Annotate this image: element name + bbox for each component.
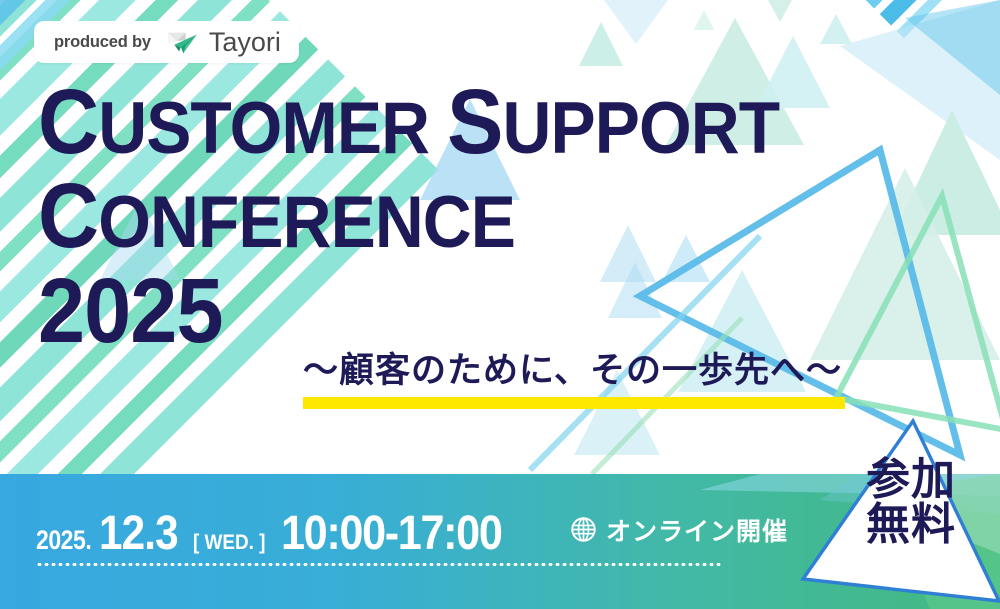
headline-line-2: CONFERENCE bbox=[38, 172, 779, 260]
event-time: 10:00-17:00 bbox=[281, 506, 502, 561]
headline-line2-cap: C bbox=[38, 165, 98, 267]
subtitle-text: 〜顧客のために、その一歩先へ〜 bbox=[303, 352, 842, 391]
headline-line1-rest2: UPPORT bbox=[503, 86, 780, 169]
headline-line1-cap: C bbox=[38, 71, 98, 173]
paper-plane-envelope-icon bbox=[161, 28, 199, 56]
event-banner: 2025. 12.3 [ WED. ] 10:00-17:00 オンライン開催 bbox=[0, 0, 1000, 609]
event-year: 2025. bbox=[36, 525, 91, 556]
headline-line2-rest: ONFERENCE bbox=[98, 180, 515, 263]
free-admission-badge: 参加 無料 bbox=[795, 415, 1000, 609]
subtitle-block: 〜顧客のために、その一歩先へ〜 bbox=[303, 352, 842, 391]
event-venue-group: オンライン開催 bbox=[570, 512, 788, 548]
free-badge-line1: 参加 bbox=[863, 457, 959, 502]
free-badge-text: 参加 無料 bbox=[863, 457, 959, 548]
dotted-divider bbox=[36, 563, 722, 566]
event-day-of-week: [ WED. ] bbox=[193, 531, 265, 555]
headline-line-3: 2025 bbox=[38, 267, 779, 355]
produced-by-label: produced by bbox=[54, 33, 151, 52]
free-badge-line2: 無料 bbox=[863, 502, 959, 547]
produced-by-badge[interactable]: produced by Tayori bbox=[34, 21, 299, 63]
event-datetime-row: 2025. 12.3 [ WED. ] 10:00-17:00 オンライン開催 bbox=[36, 506, 788, 561]
event-venue-label: オンライン開催 bbox=[606, 512, 788, 548]
headline-line-1: CUSTOMER SUPPORT bbox=[38, 78, 779, 166]
headline-line1-rest: USTOMER bbox=[98, 86, 447, 169]
globe-icon bbox=[570, 516, 597, 543]
headline-block: CUSTOMER SUPPORT CONFERENCE 2025 bbox=[38, 78, 844, 355]
tayori-brand-name: Tayori bbox=[209, 29, 281, 56]
headline-line1-cap2: S bbox=[447, 71, 503, 173]
event-date: 12.3 bbox=[99, 506, 178, 561]
subtitle-highlight-bar bbox=[303, 397, 845, 409]
